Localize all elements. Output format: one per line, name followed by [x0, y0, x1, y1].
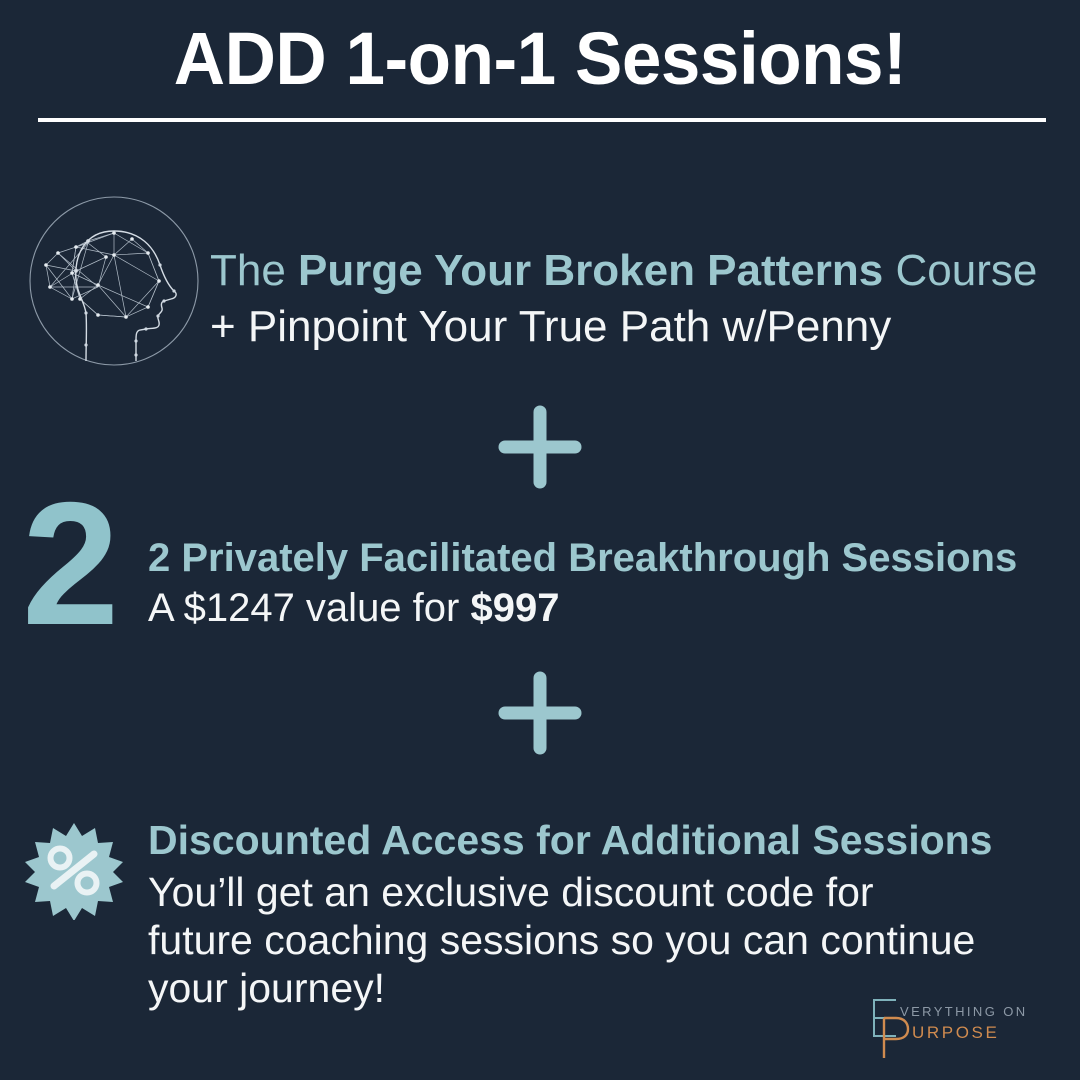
offer-item-course: The Purge Your Broken Patterns Course + … — [0, 195, 1080, 367]
offer-course-heading-bold: Purge Your Broken Patterns — [298, 246, 883, 295]
offer-sessions-detail: A $1247 value for $997 — [148, 583, 1080, 633]
offer-course-heading-prefix: The — [210, 246, 298, 295]
offer-course-heading: The Purge Your Broken Patterns Course — [210, 243, 1040, 299]
offer-course-text: The Purge Your Broken Patterns Course + … — [210, 195, 1080, 355]
offer-course-heading-suffix: Course — [883, 246, 1037, 295]
offer-item-discount: Discounted Access for Additional Session… — [0, 812, 1080, 1012]
discount-badge-icon — [24, 820, 124, 920]
network-head-icon — [28, 195, 200, 367]
offer-sessions-text: 2 Privately Facilitated Breakthrough Ses… — [148, 515, 1080, 633]
page-title: ADD 1-on-1 Sessions! — [22, 16, 1059, 102]
logo-purpose-text: URPOSE — [912, 1023, 999, 1042]
brand-logo: VERYTHING ON URPOSE — [862, 992, 1058, 1062]
offer-course-detail: + Pinpoint Your True Path w/Penny — [210, 299, 1040, 355]
offer-discount-heading: Discounted Access for Additional Session… — [148, 812, 980, 868]
offer-item-sessions: 2 2 Privately Facilitated Breakthrough S… — [0, 515, 1080, 633]
offer-sessions-price: $997 — [470, 586, 559, 630]
separator-plus-1 — [0, 404, 1080, 495]
header: ADD 1-on-1 Sessions! — [0, 0, 1080, 130]
offer-sessions-detail-prefix: A $1247 value for — [148, 586, 470, 630]
offer-sessions-number-wrap: 2 — [0, 515, 148, 629]
offer-sessions-heading: 2 Privately Facilitated Breakthrough Ses… — [148, 533, 1080, 583]
offer-discount-body: You’ll get an exclusive discount code fo… — [148, 868, 980, 1012]
plus-icon — [497, 404, 583, 490]
network-head-icon-wrap — [0, 195, 210, 367]
logo-everything-text: VERYTHING ON — [900, 1004, 1028, 1019]
discount-badge-icon-wrap — [0, 812, 148, 920]
promo-slide: ADD 1-on-1 Sessions! — [0, 0, 1080, 1080]
separator-plus-2 — [0, 670, 1080, 761]
brand-logo-mark: VERYTHING ON URPOSE — [862, 992, 1058, 1062]
plus-icon — [497, 670, 583, 756]
offer-discount-text: Discounted Access for Additional Session… — [148, 812, 1080, 1012]
offer-sessions-number: 2 — [22, 501, 115, 629]
header-divider — [38, 118, 1046, 122]
